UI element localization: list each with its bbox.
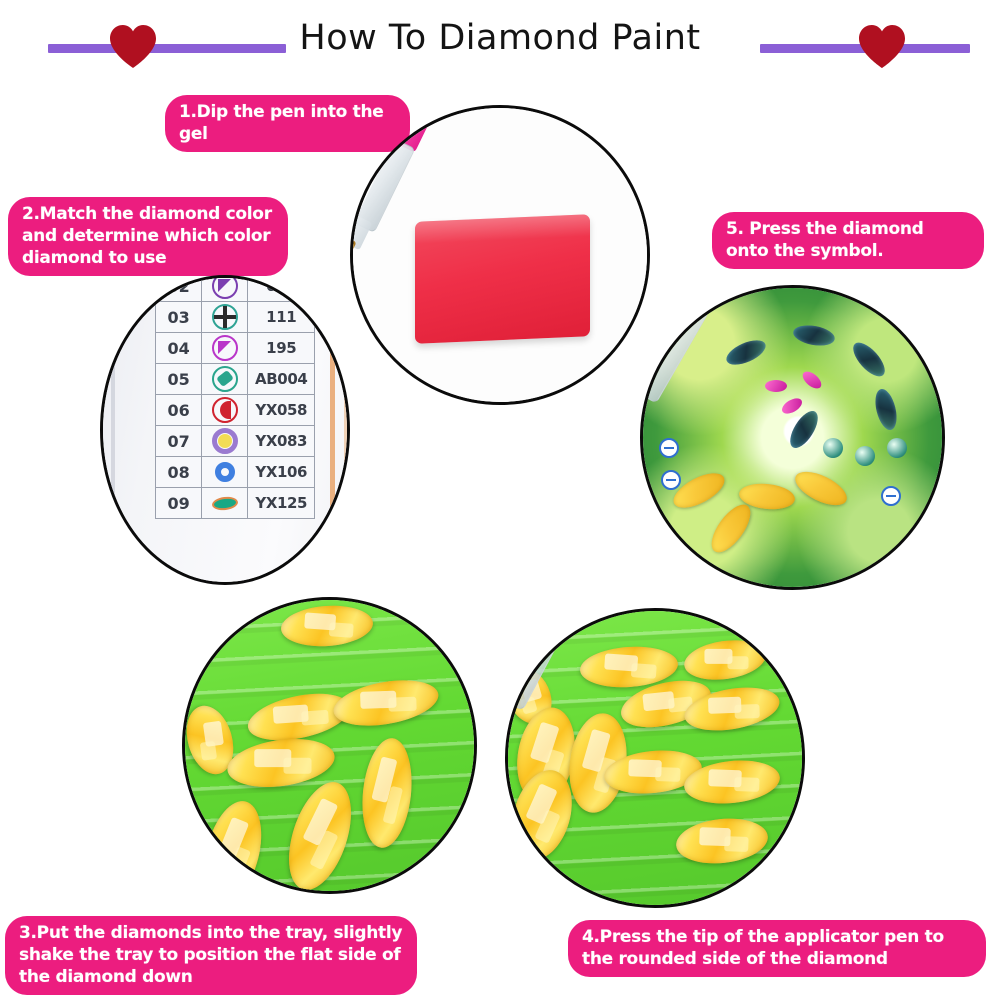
gel-pad <box>415 214 590 344</box>
chart-orange-line <box>330 275 335 585</box>
magenta-gem <box>800 368 825 391</box>
round-gem <box>823 438 843 458</box>
magenta-gem <box>765 380 787 392</box>
table-row: 09YX125 <box>156 488 315 519</box>
chart-orange-line-2 <box>344 275 347 585</box>
chart-row-code: 093 <box>248 275 315 302</box>
chart-row-number: 03 <box>156 302 202 333</box>
bar-symbol <box>202 364 248 395</box>
table-row: 06YX058 <box>156 395 315 426</box>
photo-diamonds-in-tray <box>182 597 477 894</box>
chart-row-code: YX058 <box>248 395 315 426</box>
step-label-2: 2.Match the diamond color and determine … <box>8 197 288 276</box>
chart-row-code: AB004 <box>248 364 315 395</box>
plus-symbol <box>202 302 248 333</box>
infographic-canvas: How To Diamond Paint 1.Dip the pen into … <box>0 0 1000 1000</box>
step-label-5: 5. Press the diamond onto the symbol. <box>712 212 984 269</box>
dot-symbol <box>202 426 248 457</box>
round-gem <box>887 438 907 458</box>
chart-row-number: 09 <box>156 488 202 519</box>
page-title: How To Diamond Paint <box>0 18 1000 58</box>
chart-row-code: 111 <box>248 302 315 333</box>
photo-press-onto-canvas <box>640 285 945 590</box>
table-row: 07YX083 <box>156 426 315 457</box>
table-row: 03111 <box>156 302 315 333</box>
photo-pen-picking-diamond <box>505 608 805 908</box>
table-row: 02093 <box>156 275 315 302</box>
chart-row-code: 195 <box>248 333 315 364</box>
round-gem <box>855 446 875 466</box>
yellow-diamond <box>790 465 851 512</box>
chart-row-number: 02 <box>156 275 202 302</box>
chart-row-number: 08 <box>156 457 202 488</box>
chart-row-number: 06 <box>156 395 202 426</box>
table-row: 04195 <box>156 333 315 364</box>
chart-row-number: 04 <box>156 333 202 364</box>
leaf-symbol <box>202 488 248 519</box>
photo-color-chart: 02093031110419505AB00406YX05807YX08308YX… <box>100 275 350 585</box>
table-row: 08YX106 <box>156 457 315 488</box>
step-label-4: 4.Press the tip of the applicator pen to… <box>568 920 986 977</box>
table-row: 05AB004 <box>156 364 315 395</box>
dark-gem <box>792 322 837 348</box>
dark-gem <box>848 338 890 382</box>
chart-row-code: YX106 <box>248 457 315 488</box>
printed-symbol <box>881 486 901 506</box>
printed-symbol <box>659 438 679 458</box>
dark-gem <box>872 387 901 432</box>
dark-gem <box>785 407 823 453</box>
printed-symbol <box>661 470 681 490</box>
chart-row-number: 05 <box>156 364 202 395</box>
ring-symbol <box>202 457 248 488</box>
photo-pen-dipping-gel <box>350 105 650 405</box>
triangle-symbol <box>202 275 248 302</box>
step-label-3: 3.Put the diamonds into the tray, slight… <box>5 916 417 995</box>
color-chart-table: 02093031110419505AB00406YX05807YX08308YX… <box>155 275 315 519</box>
yellow-diamond <box>704 499 757 559</box>
triangle-symbol <box>202 333 248 364</box>
magenta-gem <box>779 395 804 416</box>
chart-row-code: YX125 <box>248 488 315 519</box>
arc-symbol <box>202 395 248 426</box>
header: How To Diamond Paint <box>0 0 1000 82</box>
dark-gem <box>723 335 769 369</box>
chart-row-code: YX083 <box>248 426 315 457</box>
chart-margin-line <box>111 275 115 585</box>
chart-row-number: 07 <box>156 426 202 457</box>
